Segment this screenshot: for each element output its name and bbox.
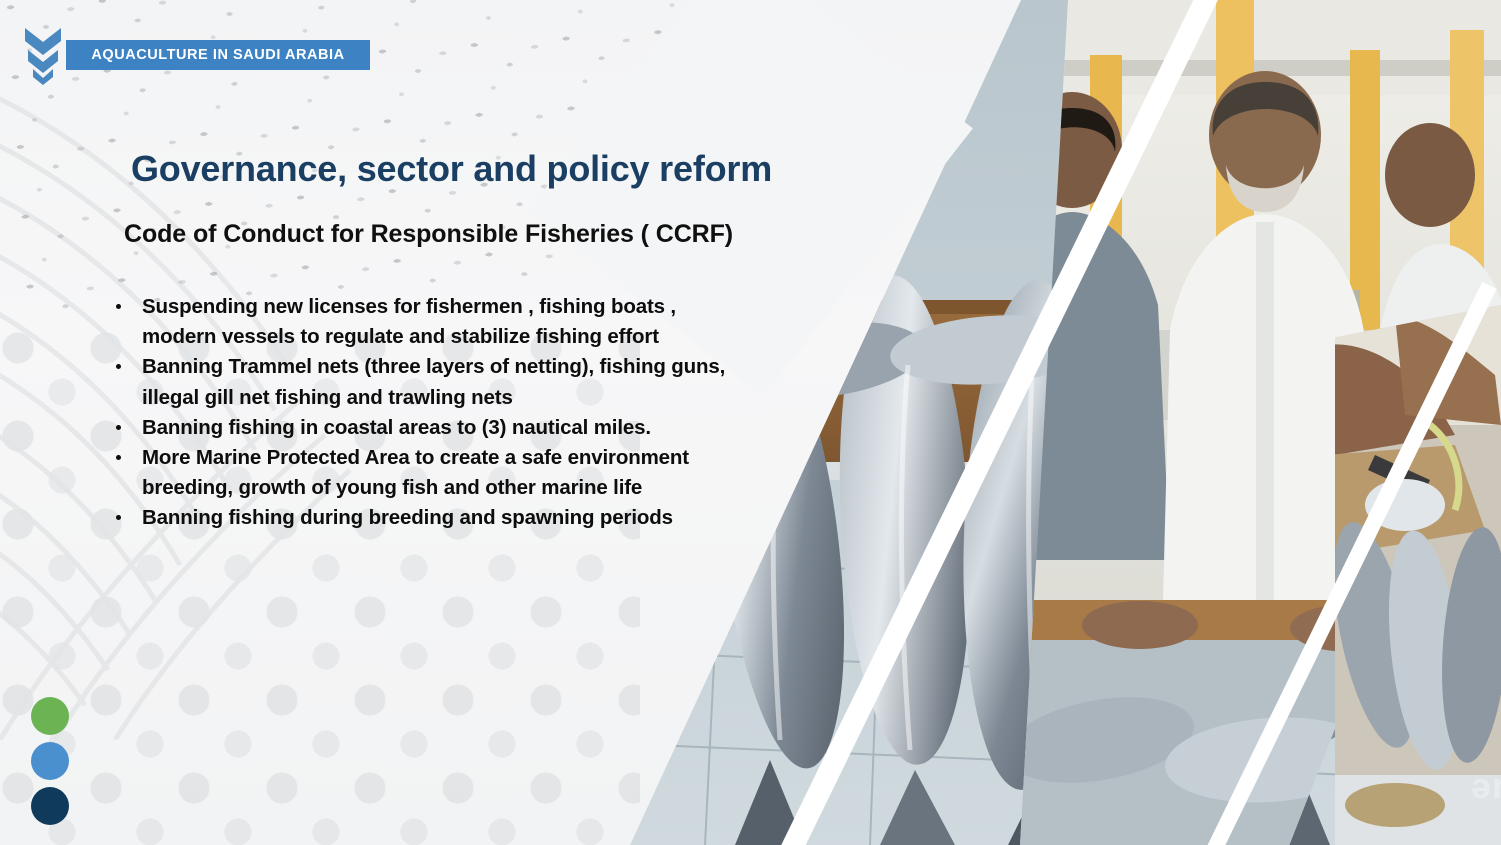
- fish-cutting-photo: [1335, 305, 1501, 845]
- green-dot: [31, 697, 69, 735]
- bullet-item: Banning Trammel nets (three layers of ne…: [110, 352, 740, 412]
- bullet-item: More Marine Protected Area to create a s…: [110, 443, 740, 503]
- page-subtitle: Code of Conduct for Responsible Fisherie…: [124, 220, 733, 249]
- bullet-item: Banning fishing in coastal areas to (3) …: [110, 413, 740, 443]
- bullet-list: Suspending new licenses for fishermen , …: [110, 292, 740, 534]
- bullet-item: Banning fishing during breeding and spaw…: [110, 503, 740, 533]
- bullet-item: Suspending new licenses for fishermen , …: [110, 292, 740, 352]
- navy-dot: [31, 787, 69, 825]
- blue-dot: [31, 742, 69, 780]
- section-banner-label: AQUACULTURE IN SAUDI ARABIA: [91, 47, 344, 63]
- double-chevron-down-icon: [20, 24, 66, 86]
- slide-canvas: © Eric Lafforgue AQUACULTURE IN SAUDI AR…: [0, 0, 1501, 845]
- section-banner: AQUACULTURE IN SAUDI ARABIA: [66, 40, 370, 70]
- accent-dot-column: [31, 697, 69, 832]
- page-title: Governance, sector and policy reform: [131, 148, 772, 190]
